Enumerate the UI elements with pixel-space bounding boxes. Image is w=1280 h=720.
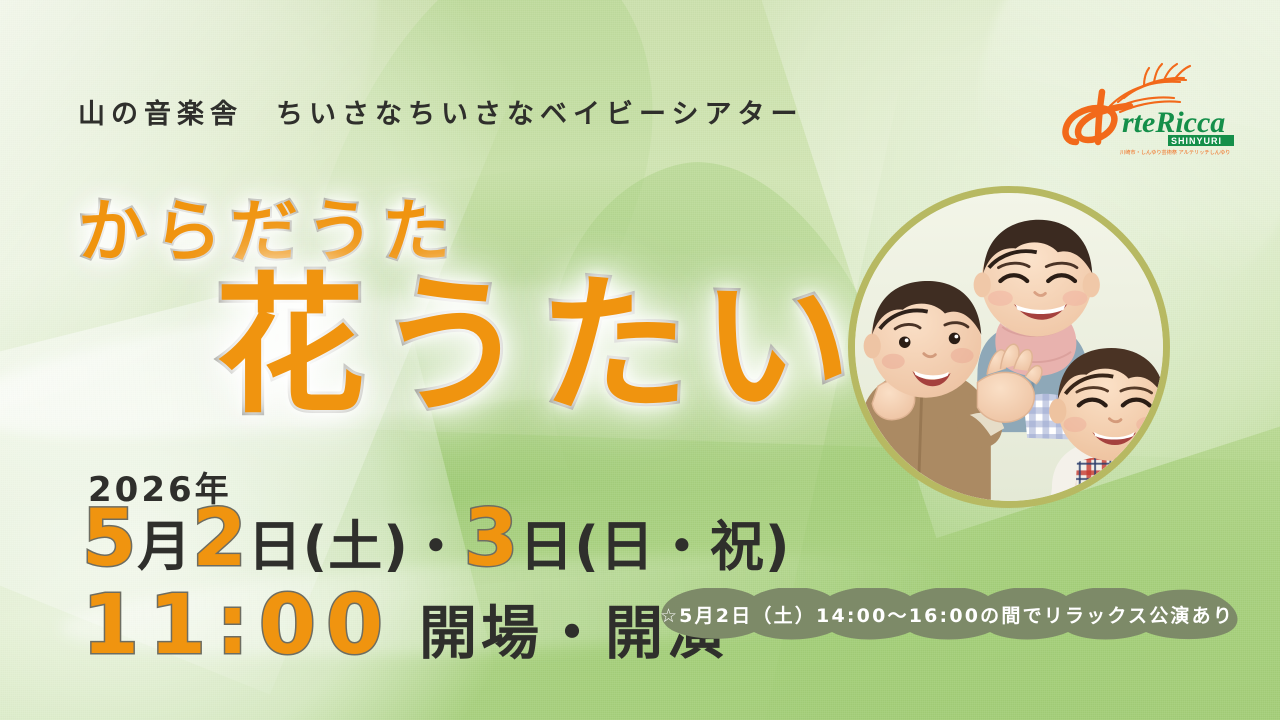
date-month-number: 5 bbox=[82, 500, 137, 578]
arte-ricca-logo-mark: rteRicca SHINYURI 川崎市・しんゆり芸術祭 アルテリッチしんゆり bbox=[1058, 58, 1248, 158]
poster-canvas: 山の音楽舎 ちいさなちいさなベイビーシアター rteRicca bbox=[0, 0, 1280, 720]
relax-performance-banner: ☆5月2日（土）14:00〜16:00の間でリラックス公演あり bbox=[646, 588, 1248, 640]
photo-babies bbox=[855, 193, 1163, 501]
date-separator: ・ bbox=[409, 520, 464, 574]
date-day1-number: 2 bbox=[192, 500, 247, 578]
photo-babies-illustration bbox=[855, 193, 1163, 501]
date-day1-weekday: (土) bbox=[303, 520, 409, 574]
time-line: 11:00 開場・開演 bbox=[82, 585, 729, 667]
time-clock: 11:00 bbox=[82, 585, 393, 667]
svg-text:rteRicca: rteRicca bbox=[1122, 106, 1225, 139]
date-day2-weekday: (日・祝) bbox=[574, 520, 790, 574]
arte-ricca-logo[interactable]: rteRicca SHINYURI 川崎市・しんゆり芸術祭 アルテリッチしんゆり bbox=[1058, 58, 1248, 158]
svg-text:SHINYURI: SHINYURI bbox=[1171, 136, 1222, 146]
date-month-unit: 月 bbox=[137, 520, 192, 574]
banner-text: ☆5月2日（土）14:00〜16:00の間でリラックス公演あり bbox=[660, 601, 1234, 628]
title-main: 花うたい bbox=[215, 272, 863, 422]
date-day2-number: 3 bbox=[464, 500, 519, 578]
date-day1-unit: 日 bbox=[248, 520, 303, 574]
date-line: 5 月 2 日 (土) ・ 3 日 (日・祝) bbox=[82, 500, 791, 578]
svg-text:川崎市・しんゆり芸術祭 アルテリッチしんゆり: 川崎市・しんゆり芸術祭 アルテリッチしんゆり bbox=[1120, 148, 1230, 156]
header-subtitle: 山の音楽舎 ちいさなちいさなベイビーシアター bbox=[78, 92, 803, 131]
photo-circle-frame bbox=[848, 186, 1170, 508]
date-day2-unit: 日 bbox=[519, 520, 574, 574]
